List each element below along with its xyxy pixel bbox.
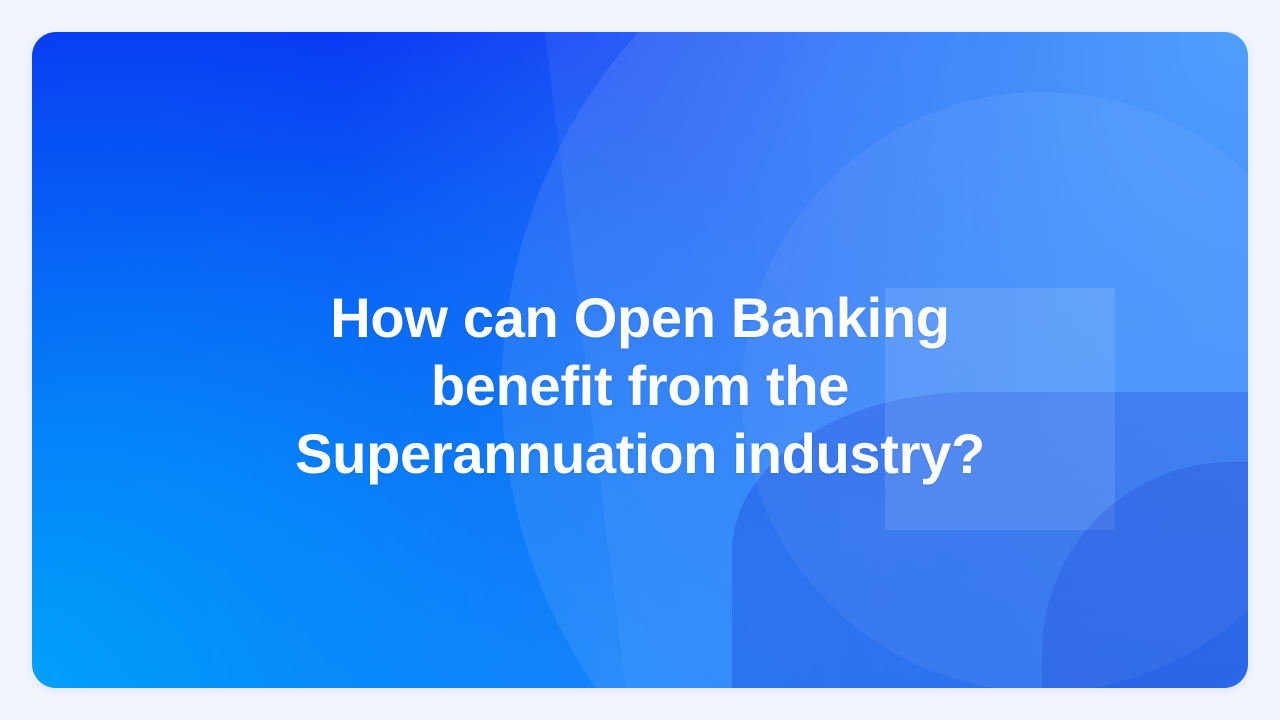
- brand-shadow-corner-decoration: [1042, 462, 1248, 688]
- hero-card: How can Open Banking benefit from the Su…: [32, 32, 1248, 688]
- hero-heading-line-1: How can Open Banking: [152, 284, 1128, 352]
- hero-heading-line-2: benefit from the: [152, 352, 1128, 420]
- hero-heading-line-3: Superannuation industry?: [152, 420, 1128, 488]
- slide-canvas: How can Open Banking benefit from the Su…: [0, 0, 1280, 720]
- hero-heading: How can Open Banking benefit from the Su…: [32, 284, 1248, 488]
